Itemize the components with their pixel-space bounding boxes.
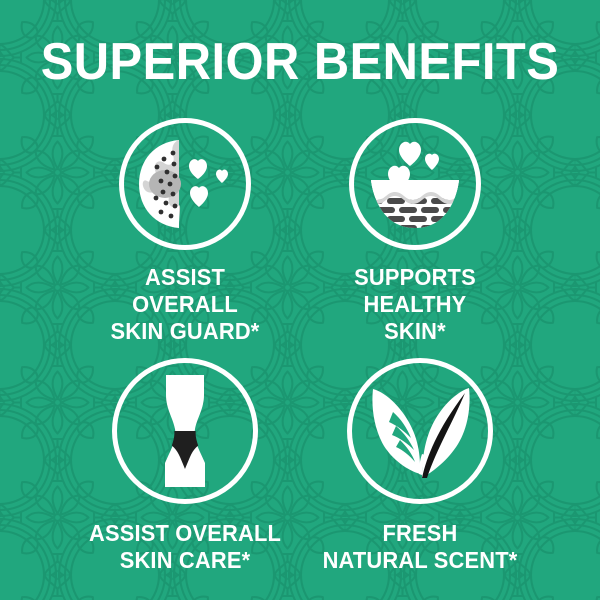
leaf-sprout-icon: [347, 358, 493, 504]
benefit-circle: [347, 358, 493, 504]
benefit-item-skin-guard: ASSIST OVERALL SKIN GUARD*: [60, 118, 310, 345]
benefit-item-natural-scent: FRESH NATURAL SCENT*: [295, 358, 545, 574]
benefit-item-skin-care: ASSIST OVERALL SKIN CARE*: [60, 358, 310, 574]
female-torso-bikini-icon: [112, 358, 258, 504]
benefit-caption: ASSIST OVERALL SKIN CARE*: [66, 520, 304, 574]
benefit-circle: [119, 118, 251, 250]
bowl-with-hearts-icon: [349, 118, 481, 250]
benefit-caption: ASSIST OVERALL SKIN GUARD*: [66, 264, 304, 345]
benefit-circle: [349, 118, 481, 250]
benefit-caption: FRESH NATURAL SCENT*: [301, 520, 539, 574]
benefit-item-healthy-skin: SUPPORTS HEALTHY SKIN*: [290, 118, 540, 345]
page-title: SUPERIOR BENEFITS: [18, 34, 582, 90]
benefit-caption: SUPPORTS HEALTHY SKIN*: [296, 264, 534, 345]
papaya-half-with-hearts-icon: [119, 118, 251, 250]
benefit-circle: [112, 358, 258, 504]
superior-benefits-poster: SUPERIOR BENEFITS: [0, 0, 600, 600]
